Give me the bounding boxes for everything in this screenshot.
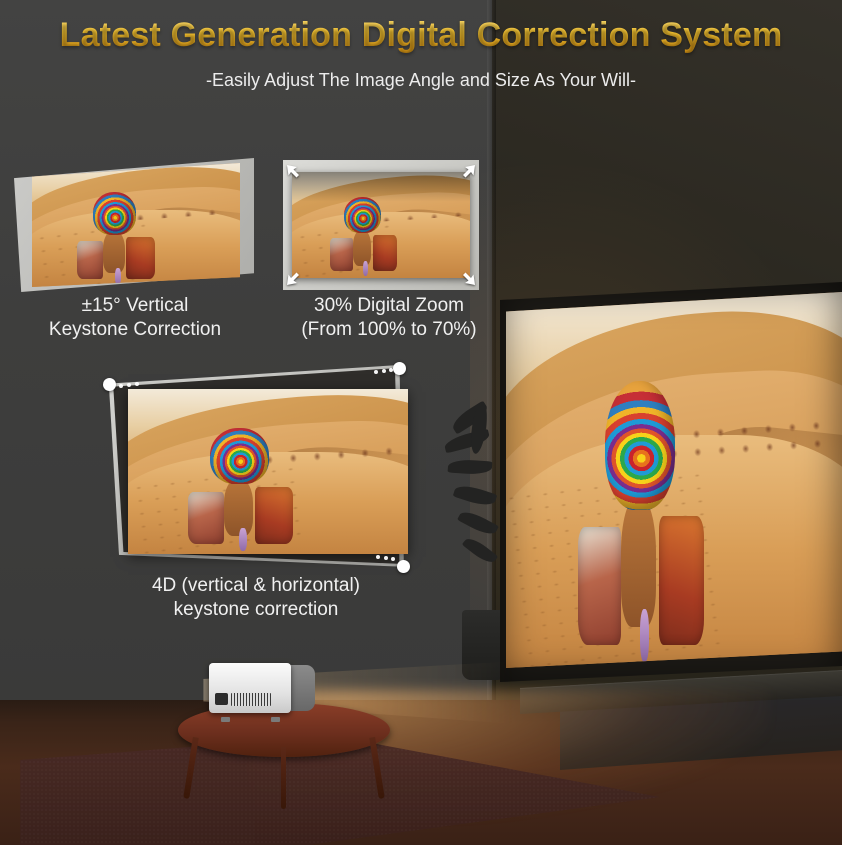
- zoom-arrow-top-left-icon: [285, 163, 305, 183]
- caption-digital-zoom: 30% Digital Zoom (From 100% to 70%): [270, 294, 508, 343]
- caption-line-1: 4D (vertical & horizontal): [60, 574, 452, 598]
- side-table: [178, 703, 390, 803]
- keystone-handle-top-right[interactable]: [393, 362, 406, 375]
- feature-vertical-keystone-visual: [14, 158, 254, 292]
- caption-line-2: Keystone Correction: [0, 318, 270, 342]
- projector-control-panel: [215, 693, 228, 705]
- projector-foot: [271, 717, 280, 722]
- table-leg: [281, 747, 286, 809]
- projector-foot: [221, 717, 230, 722]
- keystone-handle-bottom-right[interactable]: [397, 560, 410, 573]
- screen-image: [506, 292, 842, 668]
- keystone-handle-top-left[interactable]: [103, 378, 116, 391]
- projector-vent-grille: [231, 693, 271, 706]
- caption-line-2: keystone correction: [60, 598, 452, 622]
- caption-line-2: (From 100% to 70%): [270, 318, 508, 342]
- zoom-thumbnail-image: [292, 172, 470, 278]
- page-subtitle: -Easily Adjust The Image Angle and Size …: [0, 70, 842, 91]
- caption-vertical-keystone: ±15° Vertical Keystone Correction: [0, 294, 270, 343]
- table-leg: [183, 737, 199, 799]
- zoom-arrow-bottom-right-icon: [457, 267, 477, 287]
- feature-4d-keystone-visual: [98, 362, 416, 574]
- page-title: Latest Generation Digital Correction Sys…: [0, 16, 842, 55]
- projection-screen: [500, 282, 842, 682]
- camel-rider: [570, 375, 704, 668]
- keystone-thumbnail-image: [32, 163, 240, 287]
- table-leg: [369, 737, 385, 799]
- caption-4d-keystone: 4D (vertical & horizontal) keystone corr…: [60, 574, 452, 623]
- keystone-4d-thumbnail-image: [128, 389, 408, 554]
- caption-line-1: ±15° Vertical: [0, 294, 270, 318]
- caption-line-1: 30% Digital Zoom: [270, 294, 508, 318]
- projector-body: [209, 663, 291, 713]
- zoom-arrow-top-right-icon: [457, 163, 477, 183]
- promo-banner: Latest Generation Digital Correction Sys…: [0, 0, 842, 845]
- zoom-arrow-bottom-left-icon: [285, 267, 305, 287]
- feature-digital-zoom-visual: [283, 160, 479, 290]
- projector-device: [209, 663, 317, 718]
